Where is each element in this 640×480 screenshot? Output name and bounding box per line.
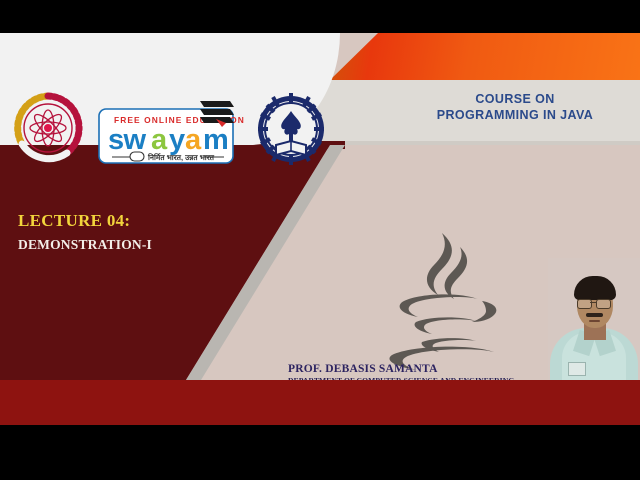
course-title: COURSE ON PROGRAMMING IN JAVA (390, 91, 640, 123)
presenter-mouth (589, 320, 600, 322)
orange-accent-band (330, 33, 640, 80)
svg-text:m: m (203, 124, 228, 156)
svg-text:y: y (169, 124, 185, 156)
presenter-glasses-right (596, 299, 611, 309)
swayam-logo: FREE ONLINE EDUCATION sw a y a m निर्मित… (96, 97, 248, 169)
svg-text:a: a (151, 124, 168, 156)
lecture-topic: DEMONSTRATION-I (18, 237, 152, 253)
presenter-glasses-bridge (590, 302, 596, 303)
letterbox-bottom (0, 425, 640, 480)
lecture-number: LECTURE 04: (18, 211, 152, 231)
presenter-video-inset (548, 258, 640, 380)
presenter-hair (574, 276, 616, 300)
presenter-id-badge (568, 362, 586, 376)
letterbox-top (0, 0, 640, 33)
presenter-name: PROF. DEBASIS SAMANTA (288, 363, 514, 375)
course-title-line2: PROGRAMMING IN JAVA (390, 107, 640, 123)
presenter-glasses-left (577, 299, 592, 309)
swayam-wordmark: sw (108, 124, 147, 156)
bottom-red-band (0, 380, 640, 425)
course-title-line1: COURSE ON (390, 91, 640, 107)
iit-kharagpur-logo-icon (256, 91, 326, 169)
nptel-logo-icon (12, 90, 84, 166)
java-logo-icon (368, 223, 508, 373)
presenter-moustache (586, 313, 603, 317)
lecture-slide: COURSE ON PROGRAMMING IN JAVA LECTURE 04… (0, 0, 640, 480)
slide-frame: COURSE ON PROGRAMMING IN JAVA LECTURE 04… (0, 33, 640, 425)
swayam-tagline-bottom: निर्मित भारत, उन्नत भारत (147, 153, 215, 162)
lecture-title-block: LECTURE 04: DEMONSTRATION-I (18, 211, 152, 253)
svg-text:a: a (185, 124, 202, 156)
